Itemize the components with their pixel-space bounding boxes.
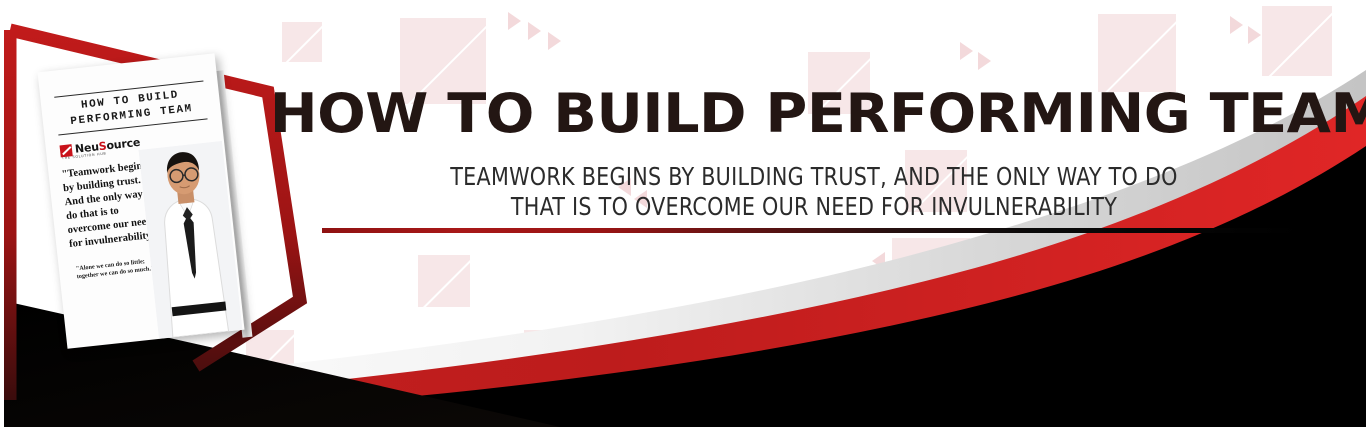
promotional-banner: HOW TO BUILD PERFORMING TEAM NeuSource T…: [0, 0, 1366, 427]
title-divider-line: [322, 228, 1307, 233]
watermark-triangle: [890, 264, 903, 282]
page-subtitle-line2: THAT IS TO OVERCOME OUR NEED FOR INVULNE…: [363, 192, 1265, 222]
watermark-square: [1108, 280, 1174, 346]
page-title: HOW TO BUILD PERFORMING TEAM: [270, 86, 1341, 142]
presenter-photo: [138, 141, 242, 339]
watermark-square: [418, 255, 470, 307]
neusource-logo-icon: [59, 144, 72, 157]
watermark-square: [524, 330, 582, 388]
left-edge-strip: [0, 0, 4, 427]
page-subtitle: TEAMWORK BEGINS BY BUILDING TRUST, AND T…: [363, 162, 1265, 222]
headline-block: HOW TO BUILD PERFORMING TEAM TEAMWORK BE…: [300, 0, 1366, 260]
booklet-cover: HOW TO BUILD PERFORMING TEAM NeuSource T…: [38, 53, 245, 349]
page-subtitle-line1: TEAMWORK BEGINS BY BUILDING TRUST, AND T…: [363, 162, 1265, 192]
